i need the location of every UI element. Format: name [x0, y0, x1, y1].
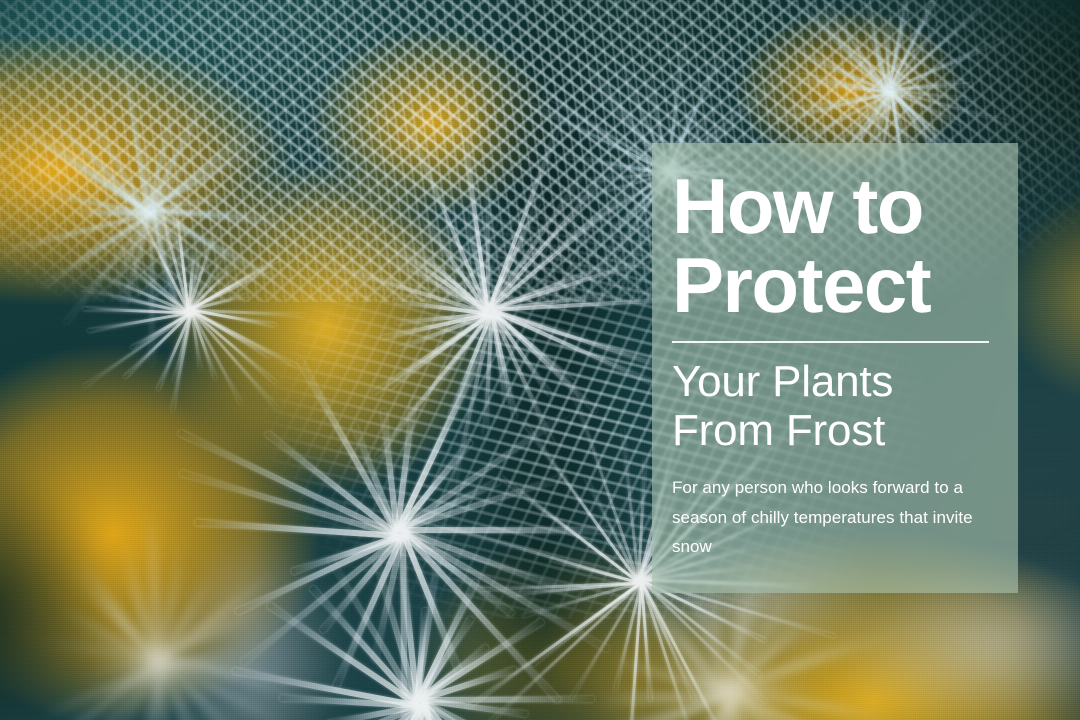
subheadline: Your Plants From Frost: [672, 357, 1002, 456]
headline: How to Protect: [672, 169, 1002, 323]
headline-line-2: Protect: [672, 248, 1002, 323]
divider-rule: [672, 341, 989, 343]
kicker-text: For any person who looks forward to a se…: [672, 473, 1002, 561]
hero-banner: How to Protect Your Plants From Frost Fo…: [0, 0, 1080, 720]
subheadline-line-2: From Frost: [672, 406, 1002, 455]
headline-line-1: How to: [672, 162, 923, 250]
caption-panel: How to Protect Your Plants From Frost Fo…: [652, 143, 1018, 593]
subheadline-line-1: Your Plants: [672, 357, 893, 406]
